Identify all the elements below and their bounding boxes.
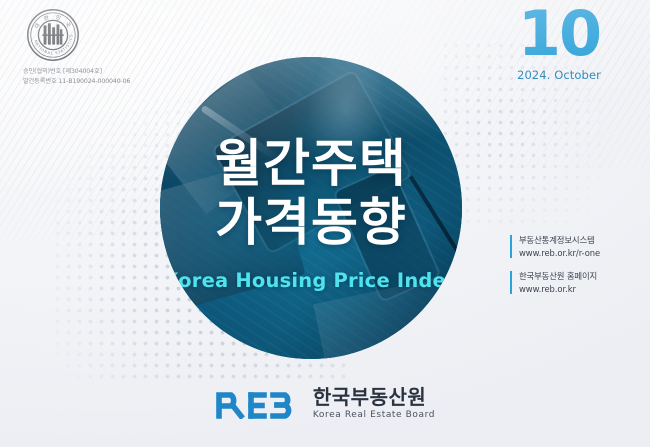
info-title-homepage: 한국부동산원 홈페이지: [519, 270, 634, 283]
brand-name-korean: 한국부동산원: [313, 387, 435, 408]
hero-circle-image: 월간주택 가격동향 Korea Housing Price Index: [160, 57, 462, 359]
issue-date-label: 2024. October: [494, 68, 624, 82]
issue-month-number: 10: [494, 4, 624, 65]
footer-logo-block: 한국부동산원 Korea Real Estate Board: [0, 387, 650, 421]
brand-name-english: Korea Real Estate Board: [313, 410, 435, 421]
report-cover: 대 한 민 국 NATIONAL STATISTICS 승인(협의)번호 [제3…: [0, 0, 650, 447]
national-statistics-seal-icon: 대 한 민 국 NATIONAL STATISTICS: [26, 8, 80, 62]
info-item-r-one[interactable]: 부동산통계정보시스템 www.reb.or.kr/r-one: [510, 234, 634, 259]
brand-text-block: 한국부동산원 Korea Real Estate Board: [313, 387, 435, 421]
report-subtitle-english: Korea Housing Price Index: [160, 269, 462, 292]
info-title-r-one: 부동산통계정보시스템: [519, 234, 634, 247]
report-title-line-2: 가격동향: [160, 194, 462, 253]
info-url-homepage[interactable]: www.reb.or.kr: [519, 283, 634, 296]
info-item-homepage[interactable]: 한국부동산원 홈페이지 www.reb.or.kr: [510, 270, 634, 295]
issue-block: 10 2024. October: [494, 4, 624, 82]
info-url-r-one[interactable]: www.reb.or.kr/r-one: [519, 247, 634, 260]
hero-title-group: 월간주택 가격동향 Korea Housing Price Index: [160, 135, 462, 292]
report-title-line-1: 월간주택: [160, 135, 462, 194]
reb-logo-icon: [215, 389, 303, 419]
website-info-block: 부동산통계정보시스템 www.reb.or.kr/r-one 한국부동산원 홈페…: [510, 234, 634, 295]
